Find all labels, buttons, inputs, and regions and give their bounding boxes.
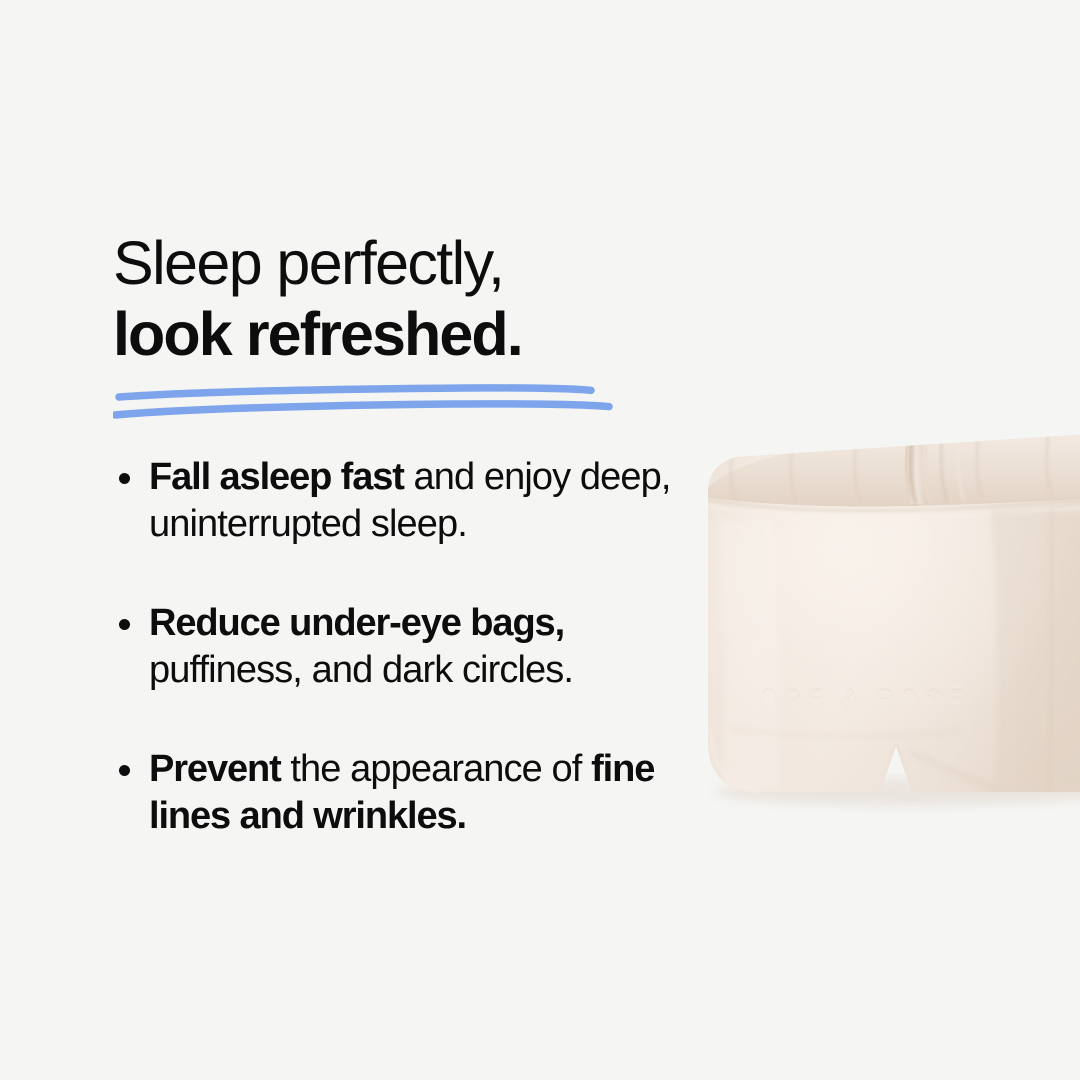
bullet-2-bold-lead: Reduce under-eye bags,: [149, 602, 564, 644]
mask-body: …ORE & ROSE …ORE & ROSE: [660, 400, 1080, 820]
ad-creative-canvas: …ORE & ROSE …ORE & ROSE Sleep pe: [0, 0, 1080, 1080]
page-title: Sleep perfectly, look refreshed.: [113, 228, 713, 370]
headline-line-2: look refreshed.: [113, 299, 713, 370]
bullet-2-text: puffiness, and dark circles.: [149, 649, 573, 691]
bullet-dot-icon: [119, 473, 130, 484]
embossed-brand-logo: …ORE & ROSE …ORE & ROSE: [728, 681, 969, 712]
underline-stroke-top: [119, 388, 591, 397]
list-item: Fall asleep fast and enjoy deep, uninter…: [113, 454, 713, 548]
copy-block: Sleep perfectly, look refreshed. Fall as…: [113, 228, 713, 840]
bullet-3-bold-lead: Prevent: [149, 748, 281, 790]
hand-drawn-double-underline-icon: [113, 384, 613, 428]
headline-underline: [113, 384, 613, 428]
list-item: Reduce under-eye bags, puffiness, and da…: [113, 600, 713, 694]
bullet-dot-icon: [119, 765, 130, 776]
bullet-3-text: the appearance of: [281, 748, 591, 790]
mask-top-padding: [700, 430, 1080, 507]
embossed-brand-highlight: …ORE & ROSE: [728, 681, 969, 709]
benefits-list: Fall asleep fast and enjoy deep, uninter…: [113, 454, 713, 840]
headline-line-1: Sleep perfectly,: [113, 228, 713, 299]
product-image-sleep-mask: …ORE & ROSE …ORE & ROSE: [660, 400, 1080, 820]
sleep-mask-illustration: …ORE & ROSE …ORE & ROSE: [660, 400, 1080, 820]
bullet-dot-icon: [119, 619, 130, 630]
bullet-1-bold-lead: Fall asleep fast: [149, 456, 404, 498]
list-item: Prevent the appearance of fine lines and…: [113, 746, 713, 840]
underline-stroke-bottom: [115, 404, 609, 415]
